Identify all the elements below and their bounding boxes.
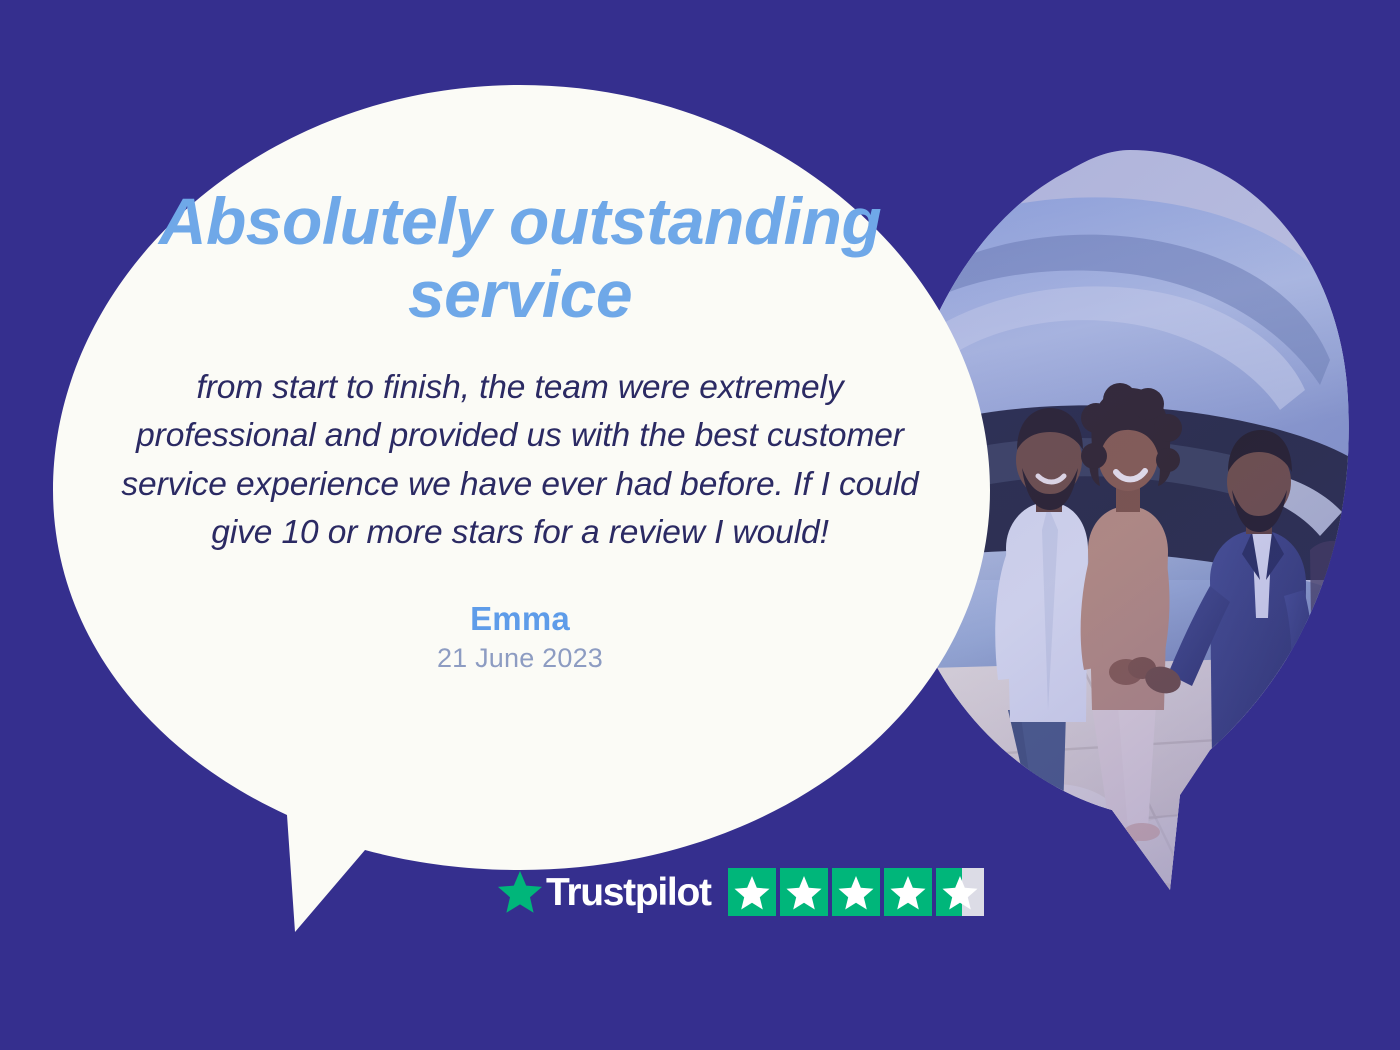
review-attribution: Emma 21 June 2023 — [90, 601, 950, 674]
trustpilot-stars[interactable] — [728, 868, 984, 916]
trustpilot-star-icon — [497, 869, 543, 915]
star-box-2[interactable] — [780, 868, 828, 916]
dealership-photo — [880, 150, 1360, 910]
star-box-1[interactable] — [728, 868, 776, 916]
review-testimonial-graphic: Absolutely outstanding service from star… — [0, 0, 1400, 1050]
review-body: from start to finish, the team were extr… — [120, 364, 920, 557]
star-icon — [936, 868, 984, 916]
star-icon — [832, 868, 880, 916]
star-box-5-half[interactable] — [936, 868, 984, 916]
star-box-3[interactable] — [832, 868, 880, 916]
star-icon — [884, 868, 932, 916]
star-icon — [780, 868, 828, 916]
review-author-name: Emma — [90, 601, 950, 637]
photo-speech-bubble — [880, 150, 1360, 910]
review-headline: Absolutely outstanding service — [90, 185, 950, 330]
trustpilot-wordmark: Trustpilot — [546, 873, 711, 912]
star-icon — [728, 868, 776, 916]
review-date: 21 June 2023 — [90, 643, 950, 674]
trustpilot-logo: Trustpilot — [497, 869, 711, 915]
trustpilot-rating[interactable]: Trustpilot — [497, 868, 984, 916]
review-content: Absolutely outstanding service from star… — [90, 185, 950, 674]
star-box-4[interactable] — [884, 868, 932, 916]
